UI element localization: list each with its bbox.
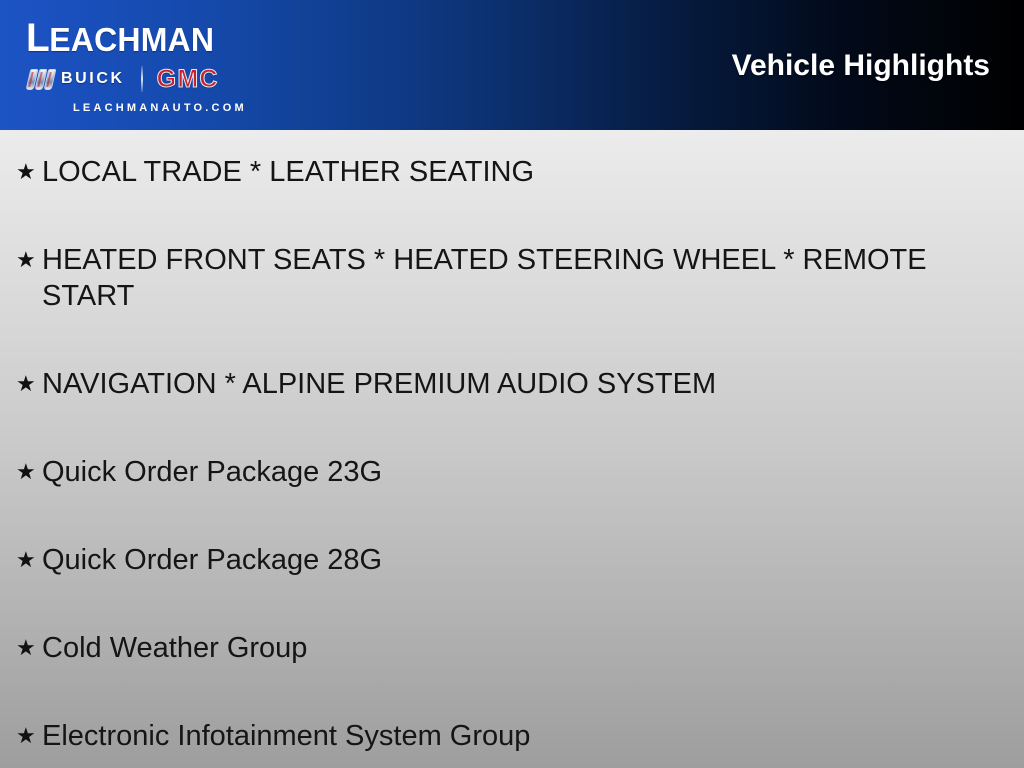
page-title: Vehicle Highlights — [732, 48, 990, 84]
list-item: ★ HEATED FRONT SEATS * HEATED STEERING W… — [16, 242, 994, 314]
dealer-logo[interactable]: LEACHMAN BUICK GMC LEACHMANAUTO.COM — [18, 8, 318, 124]
vehicle-highlights-list: ★ LOCAL TRADE * LEATHER SEATING ★ HEATED… — [16, 154, 994, 754]
highlight-text: Electronic Infotainment System Group — [42, 718, 972, 754]
star-bullet-icon: ★ — [16, 242, 42, 278]
dealer-wordmark-rest: EACHMAN — [49, 21, 214, 58]
star-bullet-icon: ★ — [16, 366, 42, 402]
vehicle-highlights-page: LEACHMAN BUICK GMC LEACHMANAUTO.COM Vehi… — [0, 0, 1024, 768]
header-banner: LEACHMAN BUICK GMC LEACHMANAUTO.COM Vehi… — [0, 0, 1024, 130]
highlights-content-area: ★ LOCAL TRADE * LEATHER SEATING ★ HEATED… — [0, 130, 1024, 768]
gmc-label: GMC — [157, 66, 219, 92]
list-item: ★ Quick Order Package 28G — [16, 542, 994, 578]
list-item: ★ Electronic Infotainment System Group — [16, 718, 994, 754]
list-item: ★ Quick Order Package 23G — [16, 454, 994, 490]
star-bullet-icon: ★ — [16, 154, 42, 190]
buick-label: BUICK — [61, 70, 125, 88]
header-left-accent-edge — [0, 0, 6, 130]
highlight-text: NAVIGATION * ALPINE PREMIUM AUDIO SYSTEM — [42, 366, 972, 402]
highlight-text: Quick Order Package 28G — [42, 542, 972, 578]
list-item: ★ NAVIGATION * ALPINE PREMIUM AUDIO SYST… — [16, 366, 994, 402]
highlight-text: Quick Order Package 23G — [42, 454, 972, 490]
star-bullet-icon: ★ — [16, 542, 42, 578]
dealer-wordmark-cap: L — [26, 16, 49, 60]
highlight-text: HEATED FRONT SEATS * HEATED STEERING WHE… — [42, 242, 972, 314]
brand-row: BUICK GMC — [28, 64, 318, 94]
dealer-wordmark: LEACHMAN — [26, 16, 298, 60]
highlight-text: LOCAL TRADE * LEATHER SEATING — [42, 154, 972, 190]
highlight-text: Cold Weather Group — [42, 630, 972, 666]
dealer-website-url: LEACHMANAUTO.COM — [73, 101, 247, 115]
list-item: ★ Cold Weather Group — [16, 630, 994, 666]
star-bullet-icon: ★ — [16, 630, 42, 666]
star-bullet-icon: ★ — [16, 454, 42, 490]
star-bullet-icon: ★ — [16, 718, 42, 754]
list-item: ★ LOCAL TRADE * LEATHER SEATING — [16, 154, 994, 190]
brand-divider — [141, 66, 143, 92]
buick-tri-shield-icon — [28, 69, 54, 90]
